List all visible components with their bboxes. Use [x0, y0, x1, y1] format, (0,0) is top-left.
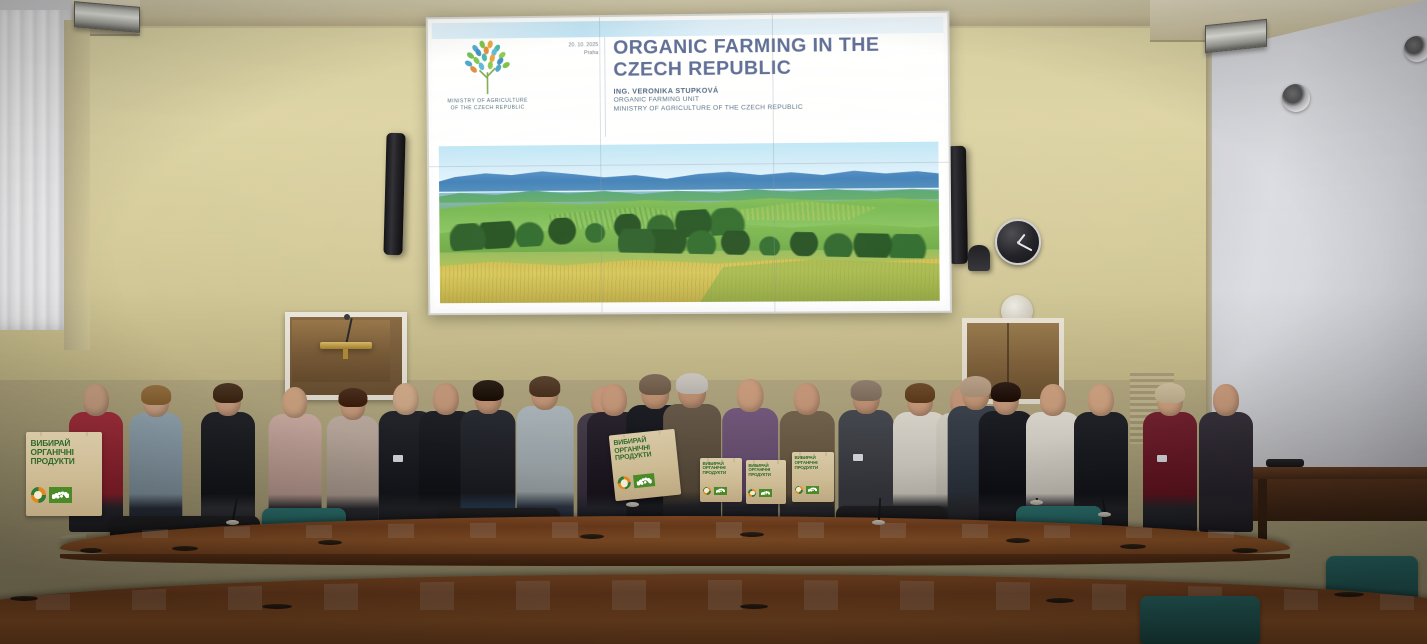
attendee-head: [1088, 384, 1114, 416]
attendee-hair: [473, 380, 504, 400]
table-microphone-port: [1046, 598, 1074, 603]
table-microphone-port: [580, 534, 604, 539]
name-badge: [853, 454, 863, 461]
blinds-rail: [0, 0, 72, 10]
name-badge: [1157, 455, 1167, 462]
attendee-hair: [338, 388, 367, 407]
attendee-head: [393, 383, 419, 415]
attendee-hair: [639, 374, 671, 395]
name-badge: [393, 455, 403, 462]
gooseneck-mic-base: [226, 520, 239, 525]
lectern-mic-head: [344, 314, 350, 320]
attendee-head: [737, 379, 764, 412]
tote-bag-text: ВИБИРАЙОРГАНІЧНІПРОДУКТИ: [795, 456, 832, 471]
slide-title-line2: CZECH REPUBLIC: [613, 55, 935, 81]
gooseneck-mic-base: [1030, 500, 1043, 505]
wall-clock: [995, 219, 1041, 265]
recessed-spotlight-icon: [1404, 36, 1427, 62]
gooseneck-mic-base: [1098, 512, 1111, 517]
tree-logo-icon: [458, 38, 518, 96]
attendee-hair: [991, 382, 1021, 402]
table-microphone-port: [1334, 592, 1364, 597]
slide-presenter-block: ING. VERONIKA STUPKOVÁ ORGANIC FARMING U…: [614, 83, 937, 113]
organic-certification-icon: [703, 487, 711, 495]
table-microphone-port: [1232, 548, 1258, 553]
tote-right-2: ВИБИРАЙОРГАНІЧНІПРОДУКТИ: [746, 460, 786, 504]
attendee-head: [1213, 384, 1239, 416]
attendee-head: [794, 383, 820, 415]
table-microphone-port: [262, 604, 292, 609]
attendee-hair: [141, 385, 171, 405]
logo-caption-line2: OF THE CZECH REPUBLIC: [448, 105, 529, 113]
table-microphone-port: [10, 596, 38, 601]
slide-header: MINISTRY OF AGRICULTURE OF THE CZECH REP…: [432, 17, 945, 143]
attendee-hair: [529, 376, 561, 397]
organic-certification-icon: [31, 487, 46, 502]
organic-certification-icon: [748, 489, 756, 497]
eu-organic-leaf-icon: [759, 489, 771, 497]
tote-bag-logos: [795, 486, 819, 494]
attendee-hair: [213, 383, 243, 403]
table-microphone-port: [172, 546, 198, 551]
slide-presenter-org: MINISTRY OF AGRICULTURE OF THE CZECH REP…: [614, 101, 936, 113]
eu-organic-leaf-icon: [806, 486, 819, 494]
attendee-hair: [960, 376, 992, 397]
attendee-hair: [1155, 383, 1185, 403]
recessed-spotlight-icon: [1282, 84, 1310, 112]
window-blinds: [0, 0, 72, 330]
slide-city: Praha: [541, 49, 599, 58]
wall-camera-icon: [968, 245, 990, 271]
attendee-hair: [905, 383, 935, 403]
table-microphone-port: [1006, 538, 1030, 543]
conference-chair[interactable]: [1140, 596, 1260, 644]
tote-bag-text-line3: ПРОДУКТИ: [795, 466, 832, 471]
tote-bag-text: ВИБИРАЙОРГАНІЧНІПРОДУКТИ: [703, 462, 740, 477]
tote-bag-handle: [799, 452, 827, 456]
gooseneck-mic-base: [626, 502, 639, 507]
tote-bag-logos: [703, 487, 727, 495]
tote-bag-handle: [707, 458, 735, 462]
gooseneck-mic-base: [872, 520, 885, 525]
tote-bag-text: ВИБИРАЙОРГАНІЧНІПРОДУКТИ: [748, 464, 783, 478]
attendee-head: [433, 383, 459, 415]
tote-bag-text-line3: ПРОДУКТИ: [31, 457, 98, 466]
clock-center-pin: [1017, 241, 1020, 244]
conference-room-photo: MINISTRY OF AGRICULTURE OF THE CZECH REP…: [0, 0, 1427, 644]
eu-organic-leaf-icon: [714, 487, 727, 495]
slide-title-block: ORGANIC FARMING IN THE CZECH REPUBLIC IN…: [604, 33, 936, 137]
table-microphone-port: [1120, 544, 1146, 549]
tote-front-left: ВИБИРАЙОРГАНІЧНІПРОДУКТИ: [26, 432, 102, 516]
tote-bag-text: ВИБИРАЙОРГАНІЧНІПРОДУКТИ: [613, 434, 673, 463]
tote-bag-text-line3: ПРОДУКТИ: [703, 471, 740, 476]
attendee-head: [282, 387, 307, 418]
conference-table-area: [0, 498, 1427, 644]
tote-bag-logos: [617, 473, 655, 490]
tote-right-3: ВИБИРАЙОРГАНІЧНІПРОДУКТИ: [792, 452, 834, 502]
attendee-head: [1040, 384, 1066, 416]
tote-bag-handle: [40, 432, 88, 436]
table-microphone-port: [318, 540, 342, 545]
table-microphone-port: [80, 548, 102, 553]
tote-bag-handle: [753, 460, 779, 464]
table-microphone-port: [740, 604, 768, 609]
slide-title: ORGANIC FARMING IN THE CZECH REPUBLIC: [613, 33, 936, 81]
column-speaker-left: [383, 133, 405, 255]
tote-bag-logos: [31, 487, 73, 502]
tote-bag-logos: [748, 489, 771, 497]
tote-center: ВИБИРАЙОРГАНІЧНІПРОДУКТИ: [609, 429, 682, 502]
attendee-head: [83, 384, 109, 416]
table-microphone-port: [740, 532, 764, 537]
ministry-logo-caption: MINISTRY OF AGRICULTURE OF THE CZECH REP…: [447, 98, 528, 113]
tote-bag-text-line3: ПРОДУКТИ: [748, 473, 783, 478]
tote-bag-text: ВИБИРАЙОРГАНІЧНІПРОДУКТИ: [31, 439, 98, 466]
clock-minute-hand: [1018, 242, 1033, 251]
tote-right-1: ВИБИРАЙОРГАНІЧНІПРОДУКТИ: [700, 458, 742, 502]
eu-organic-leaf-icon: [49, 487, 73, 502]
presentation-video-wall[interactable]: MINISTRY OF AGRICULTURE OF THE CZECH REP…: [426, 11, 952, 316]
attendee-head: [601, 384, 627, 416]
organic-certification-icon: [617, 476, 631, 490]
attendee-hair: [851, 380, 882, 400]
wall-pillar-left: [64, 20, 90, 350]
slide-date-block: 20. 10. 2025 Praha: [541, 37, 599, 137]
organic-certification-icon: [795, 486, 803, 494]
table-back-edge: [60, 554, 1290, 566]
ministry-logo: MINISTRY OF AGRICULTURE OF THE CZECH REP…: [440, 38, 536, 138]
eu-organic-leaf-icon: [633, 473, 655, 488]
attendee-hair: [676, 373, 708, 394]
